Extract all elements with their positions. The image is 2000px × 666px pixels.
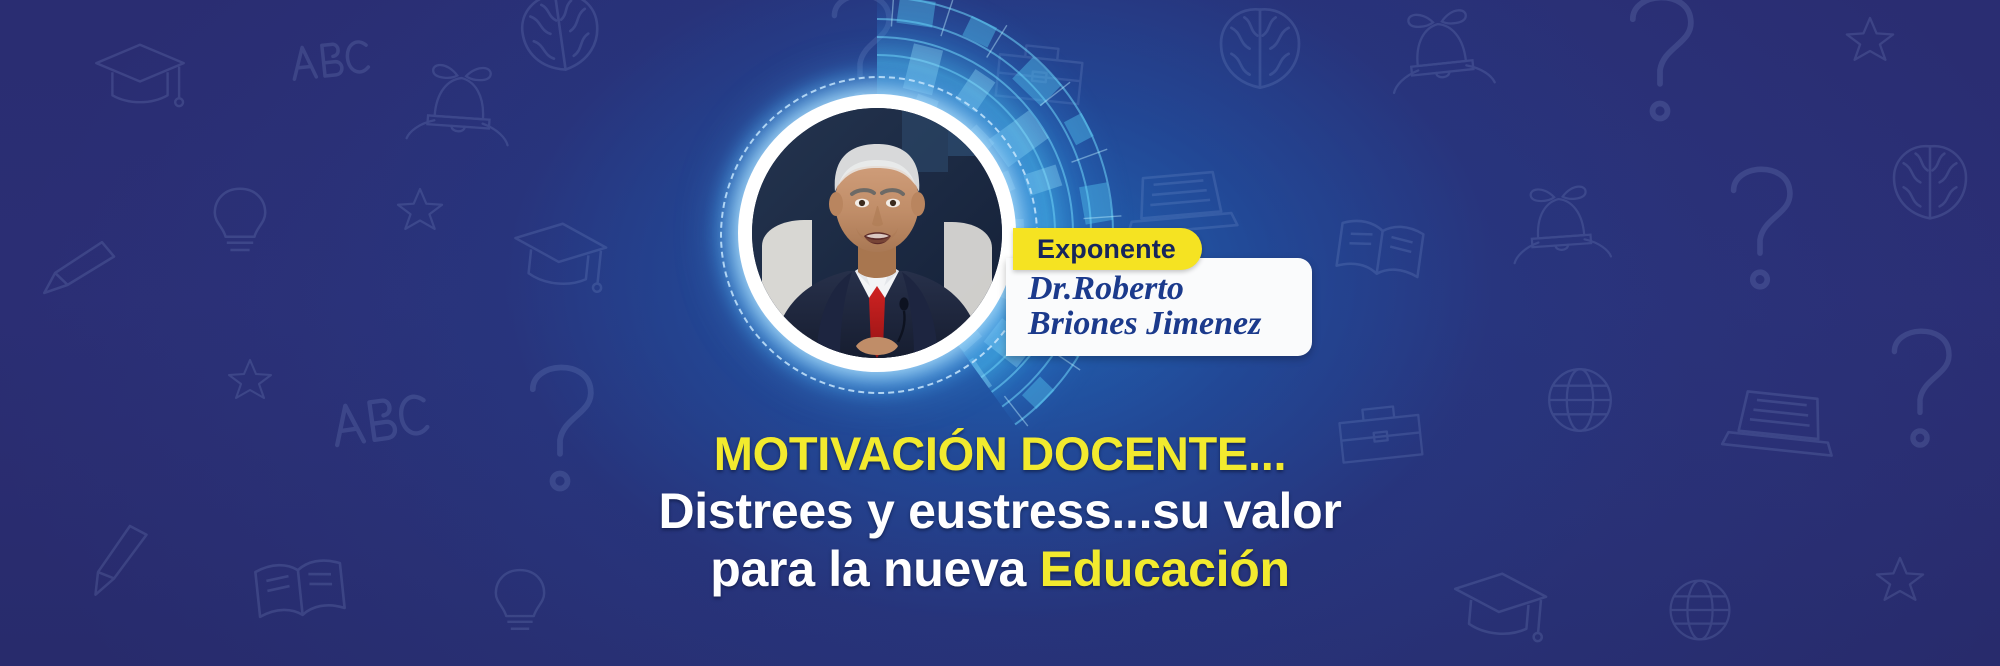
headline-line-2: Distrees y eustress...su valor [0, 483, 2000, 539]
headline-line-3-prefix: para la nueva [710, 541, 1039, 597]
promo-banner: Dr.Roberto Briones Jimenez Exponente MOT… [0, 0, 2000, 666]
headline-block: MOTIVACIÓN DOCENTE... Distrees y eustres… [0, 428, 2000, 597]
speaker-name-card: Dr.Roberto Briones Jimenez [1006, 258, 1312, 356]
exponente-badge-label: Exponente [1037, 236, 1176, 263]
headline-line-3: para la nueva Educación [0, 541, 2000, 597]
speaker-portrait [752, 108, 1002, 358]
exponente-badge: Exponente [1013, 228, 1202, 270]
speaker-name-line-2: Briones Jimenez [1028, 307, 1312, 342]
white-ring [738, 94, 1016, 372]
headline-line-1: MOTIVACIÓN DOCENTE... [0, 428, 2000, 481]
speaker-name-line-1: Dr.Roberto [1028, 272, 1312, 307]
glow-halo [712, 68, 1042, 398]
dashed-ring [720, 76, 1038, 394]
headline-line-3-accent: Educación [1040, 541, 1290, 597]
